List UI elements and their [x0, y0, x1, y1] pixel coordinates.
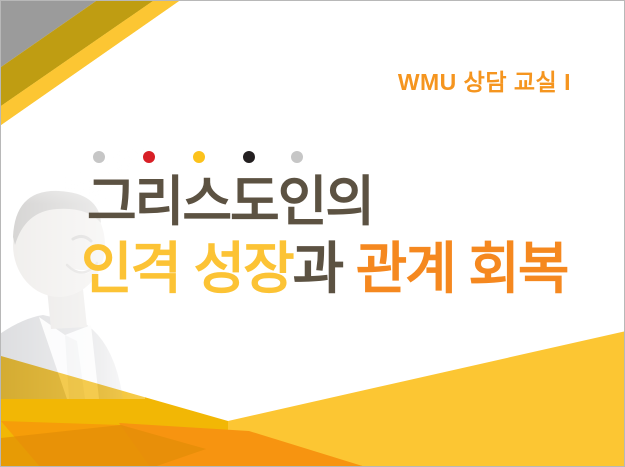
headline-segment-restoration: 관계 회복 — [342, 237, 567, 300]
dot-red-icon — [143, 151, 155, 163]
decorative-dot-row — [93, 151, 303, 165]
dot-yellow-icon — [193, 151, 205, 163]
headline-line-1: 그리스도인의 — [87, 175, 373, 229]
headline-segment-growth: 인격 성장 — [81, 237, 293, 300]
presentation-slide: WMU 상담 교실 I 그리스도인의 인격 성장과 관계 회복 — [0, 0, 625, 467]
headline-segment-conjunction: 과 — [293, 237, 343, 300]
slide-kicker: WMU 상담 교실 I — [1, 63, 571, 97]
headline-line-2: 인격 성장과 관계 회복 — [81, 241, 567, 297]
dot-black-icon — [243, 151, 255, 163]
dot-gray-2-icon — [291, 151, 303, 163]
dot-gray-1-icon — [93, 151, 105, 163]
